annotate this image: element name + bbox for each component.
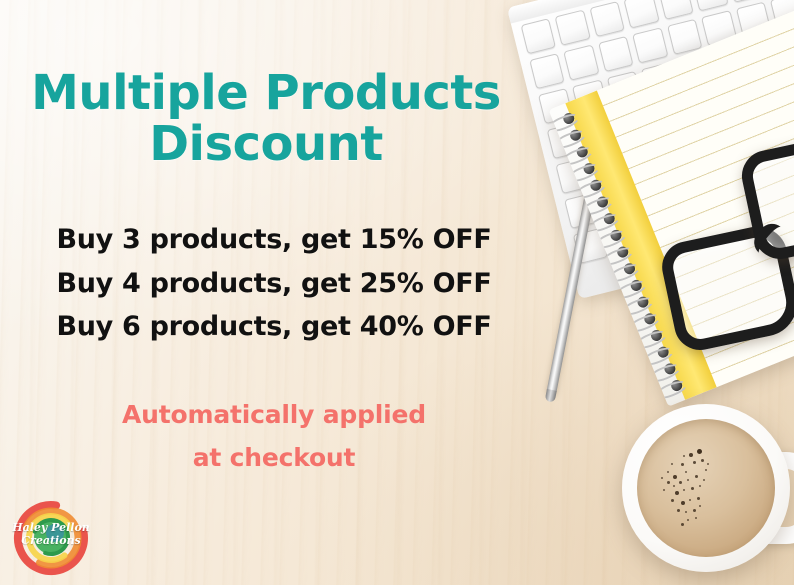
checkout-note-line-1: Automatically applied <box>16 393 532 436</box>
keyboard-key <box>624 0 660 29</box>
coffee-speckle <box>697 497 700 500</box>
keyboard-key <box>529 53 565 89</box>
coffee-speckle <box>693 461 696 464</box>
coffee-speckle <box>685 511 687 513</box>
coffee-speckle <box>675 491 679 495</box>
coffee-speckle <box>695 517 697 519</box>
coffee-speckle <box>681 501 685 505</box>
coffee-speckle <box>661 477 663 479</box>
coffee-speckle <box>679 481 682 484</box>
coffee-speckle <box>687 519 689 521</box>
coffee-speckle <box>681 463 684 466</box>
checkout-note: Automatically applied at checkout <box>16 393 532 479</box>
coffee-speckle <box>667 471 669 473</box>
keyboard-key <box>589 1 625 37</box>
logo-brush-rings-icon <box>8 496 94 580</box>
coffee-speckle <box>693 509 696 512</box>
coffee-speckle <box>667 481 670 484</box>
coffee-surface <box>637 419 775 557</box>
coffee-speckle <box>703 479 705 481</box>
coffee-speckle <box>685 471 687 473</box>
coffee-speckle <box>701 459 704 462</box>
offer-line: Buy 6 products, get 40% OFF <box>16 305 532 349</box>
coffee-speckle <box>687 479 689 481</box>
keyboard-key <box>521 18 557 54</box>
offer-line: Buy 4 products, get 25% OFF <box>16 262 532 306</box>
coffee-speckle <box>683 455 685 457</box>
coffee-speckle <box>697 449 702 454</box>
coffee-speckle <box>673 485 675 487</box>
coffee-speckle <box>677 509 680 512</box>
mug-body <box>622 404 790 572</box>
keyboard-key <box>632 27 668 63</box>
coffee-speckle <box>671 463 673 465</box>
coffee-speckle <box>699 485 701 487</box>
promo-graphic: Multiple Products Discount Buy 3 product… <box>0 0 794 585</box>
coffee-speckle <box>673 475 677 479</box>
coffee-speckle <box>689 453 693 457</box>
keyboard-key <box>658 0 694 20</box>
coffee-speckle <box>663 489 665 491</box>
pen-end-cap <box>545 389 557 403</box>
coffee-mug-image <box>622 404 790 572</box>
coffee-speckle <box>681 523 684 526</box>
coffee-speckle <box>689 499 691 501</box>
keyboard-key <box>564 44 600 80</box>
keyboard-key <box>598 36 634 72</box>
headline-line-1: Multiple Products <box>16 68 516 119</box>
coffee-speckle <box>691 487 694 490</box>
brand-logo: Haley Pellon Creations <box>8 496 94 580</box>
page-title: Multiple Products Discount <box>16 68 516 170</box>
coffee-speckle <box>707 463 709 465</box>
offer-line: Buy 3 products, get 15% OFF <box>16 218 532 262</box>
coffee-speckle <box>699 505 701 507</box>
keyboard-key <box>693 0 729 11</box>
checkout-note-line-2: at checkout <box>16 436 532 479</box>
offer-list: Buy 3 products, get 15% OFF Buy 4 produc… <box>16 218 532 349</box>
keyboard-key <box>555 10 591 46</box>
coffee-speckle <box>695 475 698 478</box>
coffee-speckle <box>683 489 685 491</box>
headline-line-2: Discount <box>16 119 516 170</box>
coffee-speckle <box>671 499 674 502</box>
coffee-speckle <box>705 469 707 471</box>
